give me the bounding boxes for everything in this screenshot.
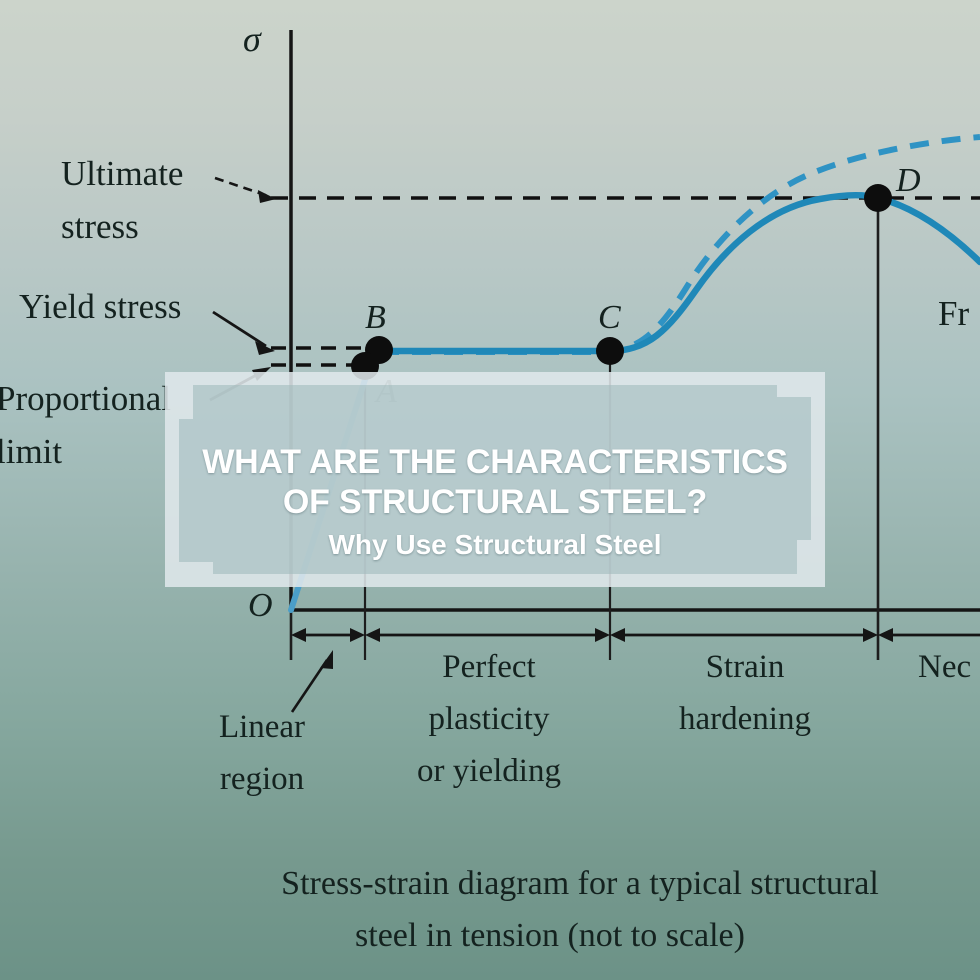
figure-caption-line1: Stress-strain diagram for a typical stru…	[130, 866, 980, 903]
region-label-linear-line1: Linear	[197, 710, 327, 746]
point-label-C: C	[598, 300, 621, 337]
title-overlay-card: WHAT ARE THE CHARACTERISTICS OF STRUCTUR…	[165, 372, 825, 587]
slide-canvas: σ Ultimate stress Yield stress Proportio…	[0, 0, 980, 980]
point-label-B: B	[365, 300, 386, 337]
true-stress-curve-dashed	[380, 137, 980, 352]
overlay-subtitle: Why Use Structural Steel	[329, 529, 662, 561]
region-label-necking: Nec	[918, 650, 971, 686]
region-label-linear-line2: region	[197, 762, 327, 798]
region-dimension-arrows	[291, 628, 980, 642]
stress-strain-curve-hardening	[610, 195, 980, 351]
figure-caption-line2: steel in tension (not to scale)	[100, 918, 980, 955]
region-label-plasticity-line2: plasticity	[395, 702, 583, 738]
annotation-yield-stress: Yield stress	[19, 288, 181, 326]
annotation-proportional-limit-line2: limit	[0, 433, 62, 471]
point-label-O: O	[248, 588, 273, 625]
overlay-title-line2: OF STRUCTURAL STEEL?	[283, 482, 707, 522]
card-text-block: WHAT ARE THE CHARACTERISTICS OF STRUCTUR…	[165, 372, 825, 587]
annotation-ultimate-stress-line1: Ultimate	[61, 155, 183, 193]
point-label-D: D	[896, 163, 921, 200]
point-marker-C	[596, 337, 624, 365]
annotation-proportional-limit-line1: Proportional	[0, 380, 171, 418]
region-label-hardening-line1: Strain	[650, 650, 840, 686]
annotation-ultimate-stress-line2: stress	[61, 208, 139, 246]
yield-stress-leader-arrow	[213, 312, 275, 355]
y-axis-label: σ	[243, 20, 261, 59]
annotation-fracture: Fr	[938, 295, 969, 333]
region-label-plasticity-line3: or yielding	[385, 754, 593, 790]
point-marker-D	[864, 184, 892, 212]
overlay-title-line1: WHAT ARE THE CHARACTERISTICS	[202, 442, 788, 482]
ultimate-stress-leader-arrow	[215, 178, 276, 203]
linear-region-leader-arrow	[292, 650, 333, 712]
region-label-plasticity-line1: Perfect	[395, 650, 583, 686]
region-label-hardening-line2: hardening	[650, 702, 840, 738]
